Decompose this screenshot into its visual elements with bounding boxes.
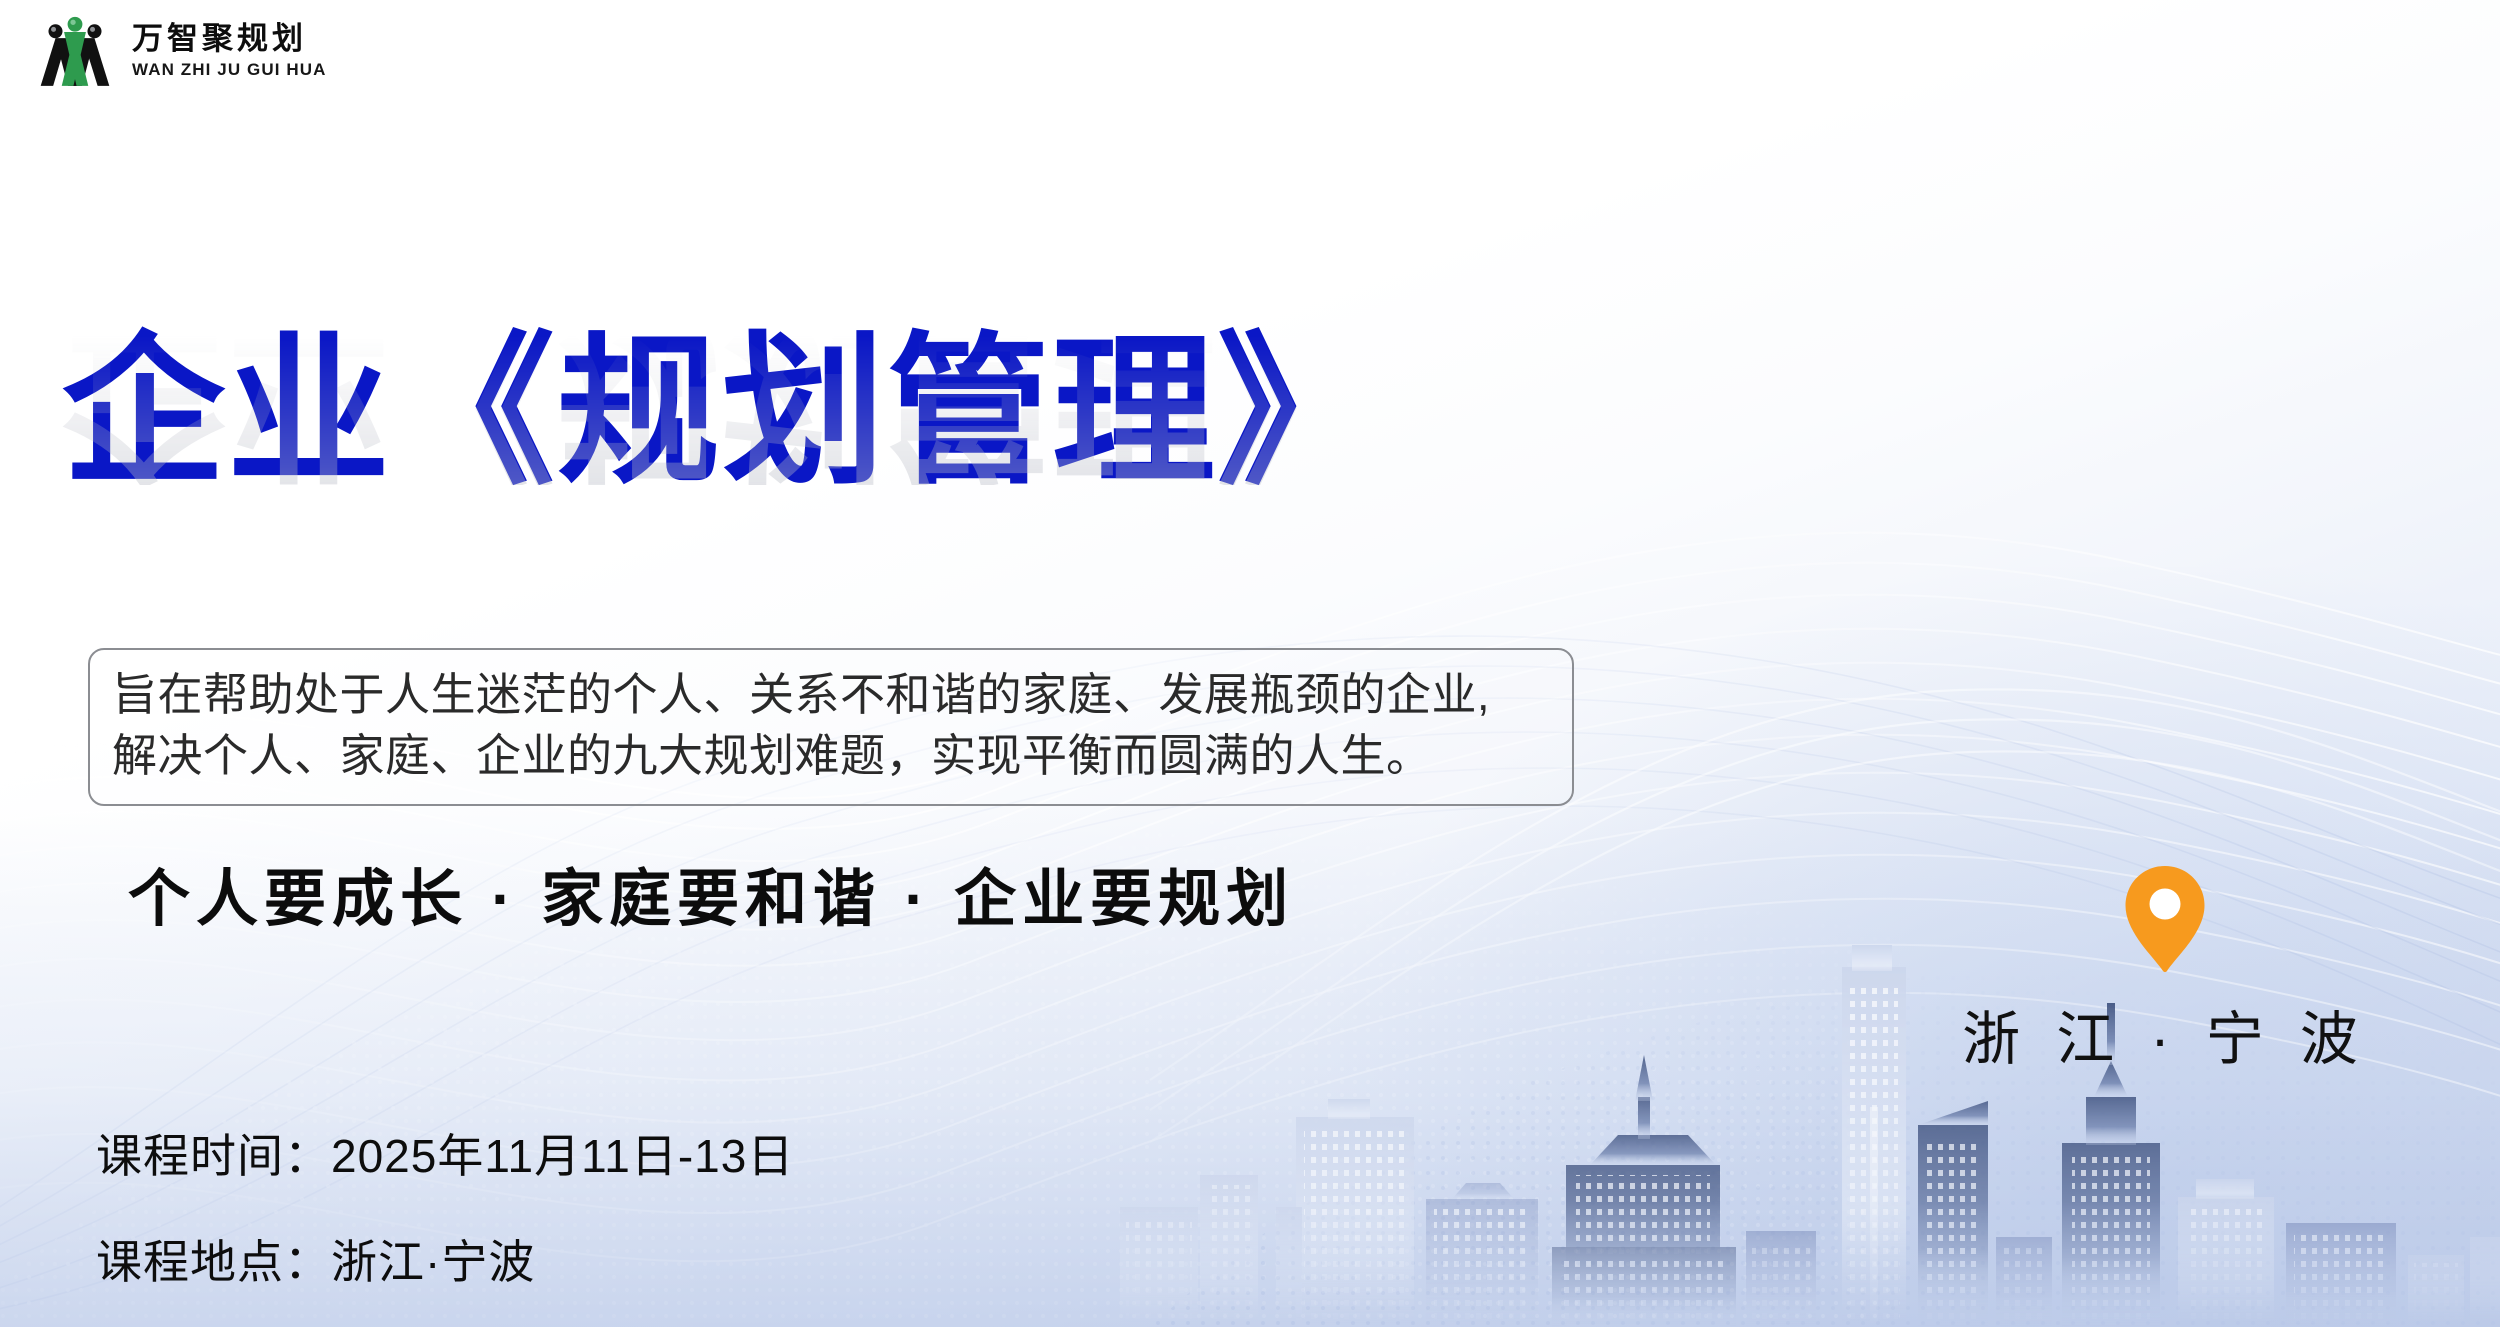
course-info: 课程时间：2025年11月11日-13日 课程地点：浙江·宁波: [96, 1120, 794, 1292]
page-title-reflection: 企业《规划管理》: [62, 322, 1762, 485]
brand-text-block: 万智聚规划 WAN ZHI JU GUI HUA: [132, 23, 327, 78]
slogan-text: 个人要成长 · 家庭要和谐 · 企业要规划: [128, 848, 1294, 938]
description-line-2: 解决个人、家庭、企业的九大规划难题，实现平衡而圆满的人生。: [112, 725, 1550, 786]
hero-title-block: 企业《规划管理》 企业《规划管理》: [62, 330, 1762, 660]
description-box: 旨在帮助处于人生迷茫的个人、关系不和谐的家庭、发展瓶颈的企业, 解决个人、家庭、…: [88, 648, 1574, 806]
map-pin-icon: [2122, 862, 2208, 974]
course-time: 课程时间：2025年11月11日-13日: [96, 1120, 794, 1186]
poster-root: 万智聚规划 WAN ZHI JU GUI HUA 企业《规划管理》 企业《规划管…: [0, 0, 2500, 1327]
brand-name-en: WAN ZHI JU GUI HUA: [132, 61, 327, 78]
location-label: 浙 江 · 宁 波: [1955, 992, 2375, 1076]
location-badge: 浙 江 · 宁 波: [1955, 862, 2375, 1076]
brand-logo[interactable]: 万智聚规划 WAN ZHI JU GUI HUA: [36, 14, 327, 86]
description-line-1: 旨在帮助处于人生迷茫的个人、关系不和谐的家庭、发展瓶颈的企业,: [112, 664, 1550, 725]
three-people-logo-icon: [36, 14, 114, 86]
brand-name-cn: 万智聚规划: [132, 23, 327, 54]
course-place: 课程地点：浙江·宁波: [96, 1226, 794, 1292]
